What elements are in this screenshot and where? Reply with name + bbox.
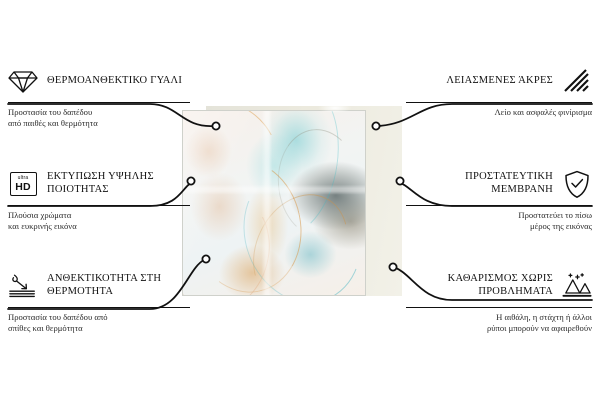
feature-title: ΘΕΡΜΟΑΝΘΕΚΤΙΚΟ ΓΥΑΛΙ (47, 75, 190, 88)
ultra-hd-big-label: HD (15, 182, 31, 193)
feature-description: Προστασία του δαπέδου από σπίθες και θερ… (8, 312, 190, 333)
feature-easy-cleaning: ΚΑΘΑΡΙΣΜΟΣ ΧΩΡΙΣ ΠΡΟΒΛΗΜΑΤΑ Η αιθάλη, η … (406, 269, 592, 333)
flame-deflect-icon (8, 271, 38, 301)
feature-title: ΕΚΤΥΠΩΣΗ ΥΨΗΛΗΣ ΠΟΙΟΤΗΤΑΣ (47, 171, 190, 196)
feature-title: ΛΕΙΑΣΜΕΝΕΣ ΆΚΡΕΣ (406, 75, 553, 88)
product-image (182, 108, 402, 296)
feature-heat-resistance: ΑΝΘΕΚΤΙΚΟΤΗΤΑ ΣΤΗ ΘΕΡΜΟΤΗΤΑ Προστασία το… (8, 269, 190, 333)
polished-edges-icon (562, 66, 592, 96)
feature-description: Η αιθάλη, η στάχτη ή άλλοι ρύποι μπορούν… (406, 312, 592, 333)
ultra-hd-icon: ultra HD (8, 169, 38, 199)
feature-description: Προστατεύει το πίσω μέρος της εικόνας (406, 210, 592, 231)
infographic-stage: ΘΕΡΜΟΑΝΘΕΚΤΙΚΟ ΓΥΑΛΙ Προστασία του δαπέδ… (0, 0, 600, 400)
divider (8, 307, 190, 308)
shield-check-icon (562, 169, 592, 199)
glass-reflection (183, 111, 365, 295)
divider (8, 102, 190, 103)
feature-protective-membrane: ΠΡΟΣΤΑΤΕΥΤΙΚΗ ΜΕΜΒΡΑΝΗ Προστατεύει το πί… (406, 167, 592, 231)
feature-description: Πλούσια χρώματα και ευκρινής εικόνα (8, 210, 190, 231)
feature-heat-resistant-glass: ΘΕΡΜΟΑΝΘΕΚΤΙΚΟ ΓΥΑΛΙ Προστασία του δαπέδ… (8, 64, 190, 128)
diamond-icon (8, 66, 38, 96)
divider (8, 205, 190, 206)
feature-title: ΠΡΟΣΤΑΤΕΥΤΙΚΗ ΜΕΜΒΡΑΝΗ (406, 171, 553, 196)
feature-high-quality-print: ultra HD ΕΚΤΥΠΩΣΗ ΥΨΗΛΗΣ ΠΟΙΟΤΗΤΑΣ Πλούσ… (8, 167, 190, 231)
glass-glint (318, 103, 352, 113)
sparkle-clean-icon (562, 271, 592, 301)
feature-title: ΑΝΘΕΚΤΙΚΟΤΗΤΑ ΣΤΗ ΘΕΡΜΟΤΗΤΑ (47, 273, 190, 298)
divider (406, 102, 592, 103)
feature-polished-edges: ΛΕΙΑΣΜΕΝΕΣ ΆΚΡΕΣ Λείο και ασφαλές φινίρι… (406, 64, 592, 118)
feature-description: Προστασία του δαπέδου από παιθές και θερ… (8, 107, 190, 128)
divider (406, 205, 592, 206)
feature-description: Λείο και ασφαλές φινίρισμα (406, 107, 592, 118)
feature-title: ΚΑΘΑΡΙΣΜΟΣ ΧΩΡΙΣ ΠΡΟΒΛΗΜΑΤΑ (406, 273, 553, 298)
divider (406, 307, 592, 308)
glass-panel (182, 110, 366, 296)
